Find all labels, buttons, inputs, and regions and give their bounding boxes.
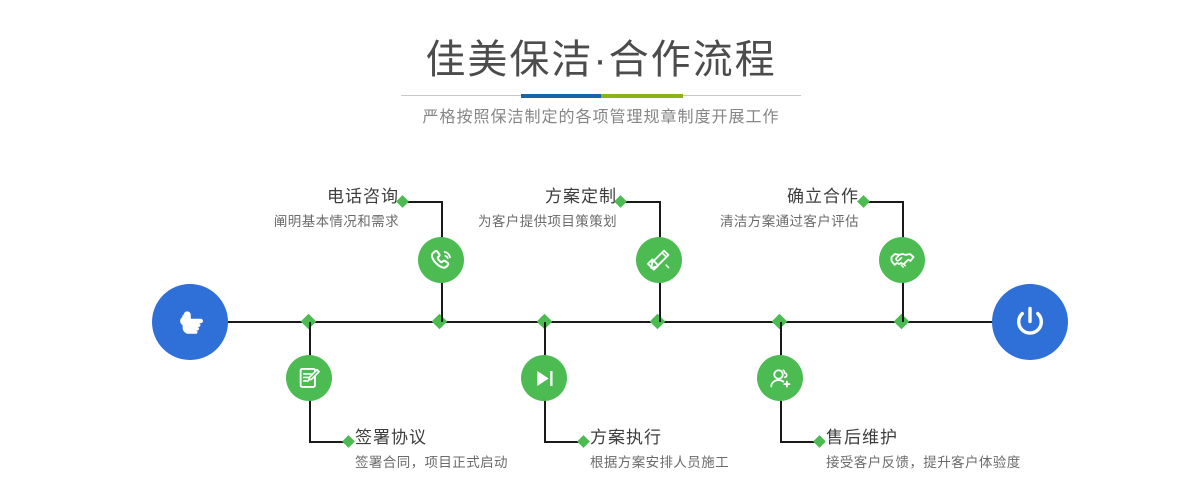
axis-marker-4 (650, 314, 666, 330)
step-1-desc: 阐明基本情况和需求 (274, 212, 399, 232)
step-2-label-marker (342, 435, 355, 448)
step-4-label-marker (577, 435, 590, 448)
step-5-elbow (865, 201, 903, 203)
step-4-desc: 根据方案安排人员施工 (590, 453, 729, 473)
step-3-elbow (622, 201, 660, 203)
title-divider (401, 94, 801, 97)
step-5-label: 确立合作 清洁方案通过客户评估 (720, 186, 859, 232)
pencil-ruler-icon (646, 247, 672, 273)
step-3-label: 方案定制 为客户提供项目策策划 (478, 186, 617, 232)
step-6-title: 售后维护 (826, 427, 1021, 449)
step-4-icon-bubble (521, 355, 567, 401)
timeline-end-node (992, 284, 1068, 360)
page-subtitle: 严格按照保洁制定的各项管理规章制度开展工作 (0, 105, 1202, 131)
step-3-icon-bubble (636, 237, 682, 283)
step-1-label: 电话咨询 阐明基本情况和需求 (274, 186, 399, 232)
step-4-stem (544, 322, 546, 356)
step-1-title: 电话咨询 (274, 186, 399, 208)
step-2-title: 签署协议 (355, 427, 508, 449)
phone-call-icon (428, 247, 455, 274)
step-6-elbow-riser (780, 400, 782, 442)
step-4-label: 方案执行 根据方案安排人员施工 (590, 427, 729, 473)
step-6-stem (780, 322, 782, 356)
step-6-label: 售后维护 接受客户反馈，提升客户体验度 (826, 427, 1021, 473)
page-title: 佳美保洁·合作流程 (0, 36, 1202, 84)
step-2-elbow-riser (309, 400, 311, 442)
timeline-start-node (152, 284, 228, 360)
document-sign-icon (296, 365, 322, 391)
step-5-icon-bubble (879, 237, 925, 283)
step-1-icon-bubble (418, 237, 464, 283)
step-5-desc: 清洁方案通过客户评估 (720, 212, 859, 232)
step-6-label-marker (813, 435, 826, 448)
step-3-title: 方案定制 (478, 186, 617, 208)
step-2-desc: 签署合同，项目正式启动 (355, 453, 508, 473)
step-5-title: 确立合作 (720, 186, 859, 208)
step-5-elbow-riser (902, 201, 904, 235)
power-icon (1009, 301, 1051, 343)
step-6-desc: 接受客户反馈，提升客户体验度 (826, 453, 1021, 473)
pointing-hand-icon (170, 302, 210, 342)
step-2-stem (309, 322, 311, 356)
divider-segment-blue (521, 94, 601, 98)
step-4-elbow-riser (544, 400, 546, 442)
step-3-elbow-riser (659, 201, 661, 235)
divider-segment-green (601, 94, 683, 98)
cooperation-process-infographic: 佳美保洁·合作流程 严格按照保洁制定的各项管理规章制度开展工作 (0, 0, 1202, 502)
step-1-elbow-riser (441, 201, 443, 235)
step-3-desc: 为客户提供项目策策划 (478, 212, 617, 232)
play-to-end-icon (532, 366, 557, 391)
step-6-icon-bubble (757, 355, 803, 401)
step-1-elbow (404, 201, 442, 203)
step-2-label: 签署协议 签署合同，项目正式启动 (355, 427, 508, 473)
customer-support-add-icon (767, 365, 793, 391)
step-2-icon-bubble (286, 355, 332, 401)
step-4-title: 方案执行 (590, 427, 729, 449)
step-5-label-marker (857, 195, 870, 208)
handshake-icon (889, 247, 916, 274)
axis-marker-2 (432, 314, 448, 330)
